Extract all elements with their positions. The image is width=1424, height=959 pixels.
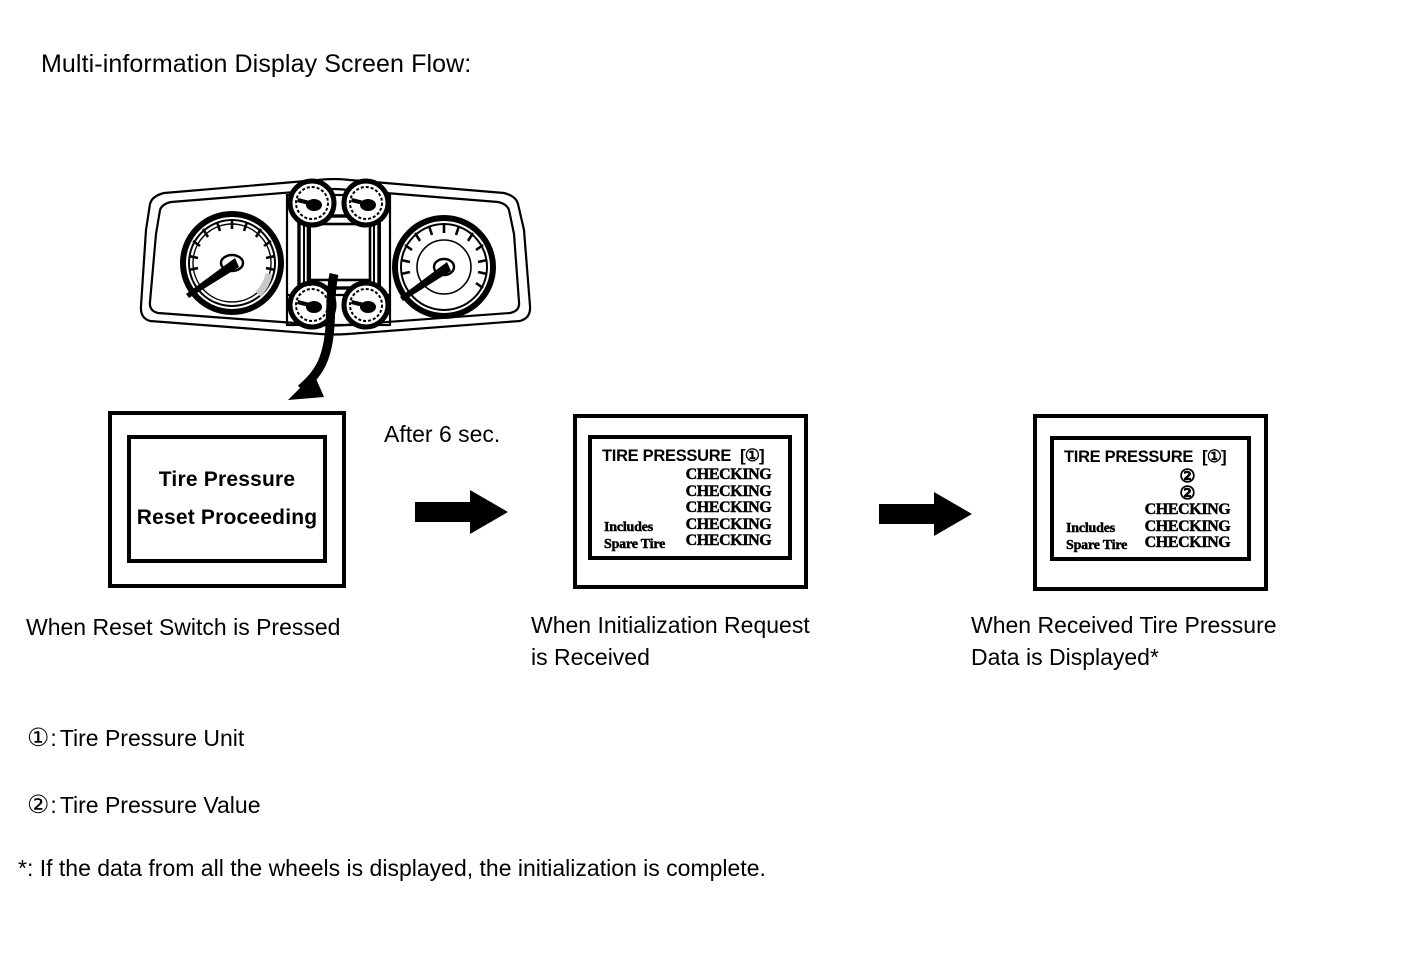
caption-line: is Received [531, 641, 810, 673]
includes-spare-tire-label: Includes Spare Tire [1066, 521, 1127, 554]
instrument-cluster-illustration [138, 178, 548, 400]
reset-line-1: Tire Pressure [159, 468, 295, 492]
page-title: Multi-information Display Screen Flow: [41, 50, 471, 79]
includes-line-1: Includes [1066, 521, 1127, 538]
legend-tire-pressure-value: ② : Tire Pressure Value [27, 792, 261, 819]
caption-line: When Initialization Request [531, 609, 810, 641]
caption-line: Data is Displayed* [971, 641, 1277, 673]
tire-pressure-header-label: TIRE PRESSURE [602, 447, 731, 466]
legend-marker-2: ② [27, 793, 49, 818]
tire-status-row: CHECKING [1136, 502, 1239, 519]
tire-status-row: CHECKING [677, 517, 780, 534]
tire-status-row: CHECKING [1136, 519, 1239, 536]
tire-status-row: CHECKING [677, 533, 780, 550]
tire-pressure-header: TIRE PRESSURE [①] [1064, 447, 1239, 467]
caption-line: When Reset Switch is Pressed [26, 611, 340, 643]
tire-status-row: CHECKING [677, 467, 780, 484]
screen-reset-proceeding: Tire Pressure Reset Proceeding [108, 411, 346, 588]
legend-label: Tire Pressure Unit [60, 725, 244, 752]
legend-label: Tire Pressure Value [60, 792, 261, 819]
includes-spare-tire-label: Includes Spare Tire [604, 520, 665, 553]
caption-received-pressure-data: When Received Tire Pressure Data is Disp… [971, 609, 1277, 673]
screen-pressure-data-inner: TIRE PRESSURE [①] Includes Spare Tire ② … [1050, 436, 1251, 561]
tire-pressure-unit-marker: [①] [1202, 447, 1226, 467]
legend-tire-pressure-unit: ① : Tire Pressure Unit [27, 725, 244, 752]
legend-separator: : [50, 725, 56, 752]
tire-status-row: CHECKING [1136, 535, 1239, 552]
legend-marker-1: ① [27, 726, 49, 751]
screen-reset-proceeding-inner: Tire Pressure Reset Proceeding [127, 435, 327, 563]
reset-line-2: Reset Proceeding [137, 506, 318, 530]
tire-status-row: CHECKING [677, 500, 780, 517]
tire-status-row: CHECKING [677, 484, 780, 501]
footnote: *: If the data from all the wheels is di… [18, 855, 766, 882]
caption-reset-switch: When Reset Switch is Pressed [26, 611, 340, 643]
tire-pressure-header-label: TIRE PRESSURE [1064, 448, 1193, 467]
tire-value-row: ② [1136, 485, 1239, 502]
after-delay-label: After 6 sec. [384, 421, 500, 448]
caption-initialization-request: When Initialization Request is Received [531, 609, 810, 673]
tire-status-rows: CHECKING CHECKING CHECKING CHECKING CHEC… [677, 467, 780, 550]
legend-separator: : [50, 792, 56, 819]
includes-line-2: Spare Tire [1066, 538, 1127, 555]
caption-line: When Received Tire Pressure [971, 609, 1277, 641]
includes-line-2: Spare Tire [604, 537, 665, 554]
flow-arrow-1-icon [415, 490, 508, 534]
includes-line-1: Includes [604, 520, 665, 537]
screen-pressure-data: TIRE PRESSURE [①] Includes Spare Tire ② … [1033, 414, 1268, 591]
screen-initialization-request-inner: TIRE PRESSURE [①] Includes Spare Tire CH… [588, 435, 792, 560]
screen-initialization-request: TIRE PRESSURE [①] Includes Spare Tire CH… [573, 414, 808, 589]
tire-pressure-header: TIRE PRESSURE [①] [602, 446, 780, 466]
tire-pressure-unit-marker: [①] [740, 446, 764, 466]
tire-status-rows: ② ② CHECKING CHECKING CHECKING [1136, 468, 1239, 552]
flow-arrow-2-icon [879, 492, 972, 536]
